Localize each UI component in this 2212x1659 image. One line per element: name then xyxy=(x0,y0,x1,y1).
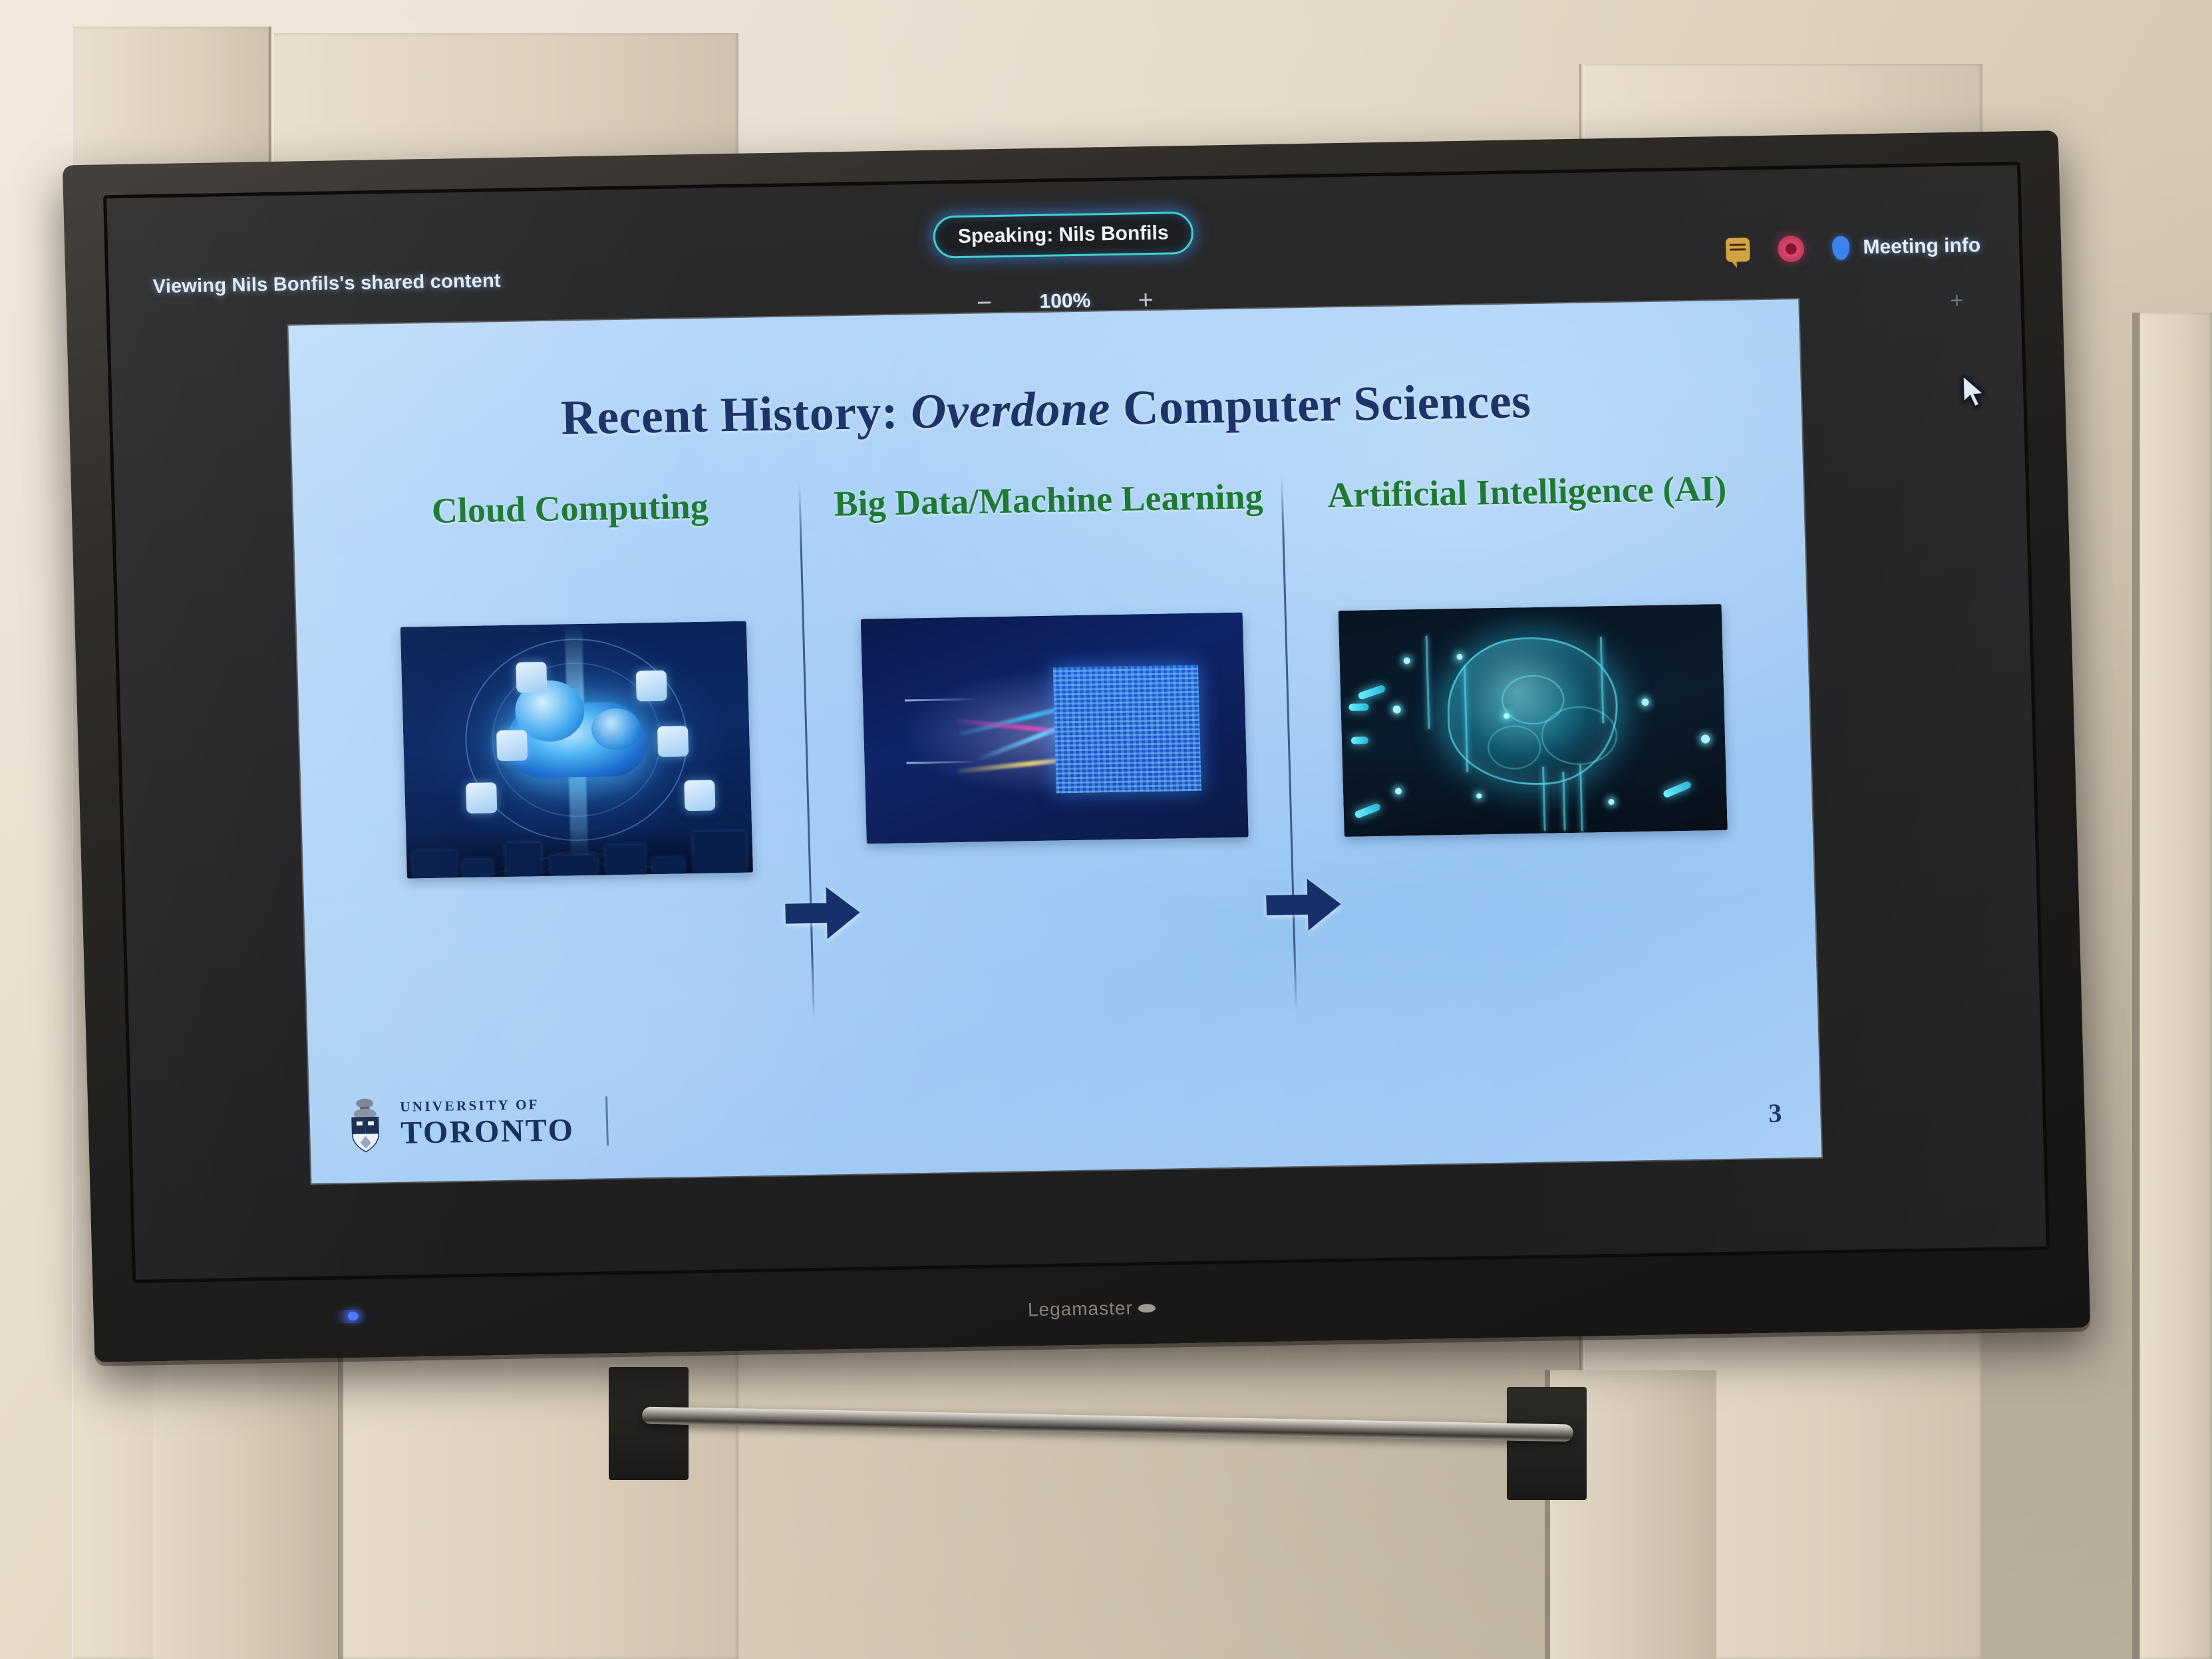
display-brand-mark xyxy=(1138,1304,1156,1312)
arrow-right-icon-1 xyxy=(784,884,860,943)
info-pin-icon[interactable] xyxy=(1832,236,1850,260)
chat-icon[interactable] xyxy=(1726,237,1750,262)
uoft-logo: UNIVERSITY OF TORONTO xyxy=(344,1093,609,1153)
wall-post-left xyxy=(153,1344,339,1659)
ai-brain-illustration xyxy=(1339,604,1728,837)
wall-panel-far-right-shadow xyxy=(2132,313,2140,1659)
uoft-line-1: UNIVERSITY OF xyxy=(400,1097,574,1114)
column-heading-3: Artificial Intelligence (AI) xyxy=(1327,467,1728,572)
slide-title-suffix: Computer Sciences xyxy=(1110,374,1532,436)
column-heading-1: Cloud Computing xyxy=(431,485,711,588)
display-brand-name: Legamaster xyxy=(1028,1298,1134,1321)
display-power-led xyxy=(333,1309,382,1323)
meeting-info-button[interactable]: Meeting info xyxy=(1863,234,1981,259)
speaking-badge: Speaking: Nils Bonfils xyxy=(933,212,1193,259)
meeting-toolbar[interactable]: Meeting info xyxy=(1726,232,1981,263)
zoom-out-button[interactable]: − xyxy=(970,289,999,317)
column-big-data: Big Data/Machine Learning xyxy=(808,474,1297,844)
uoft-divider-rule xyxy=(605,1096,609,1145)
arrow-right-icon-2 xyxy=(1265,875,1341,934)
display-mount-bracket-right xyxy=(1507,1387,1587,1500)
uoft-wordmark: UNIVERSITY OF TORONTO xyxy=(400,1097,575,1149)
column-artificial-intelligence: Artificial Intelligence (AI) xyxy=(1287,466,1776,837)
cloud-computing-illustration xyxy=(400,621,752,879)
viewing-shared-content-label: Viewing Nils Bonfils's shared content xyxy=(152,270,501,298)
column-heading-2: Big Data/Machine Learning xyxy=(834,475,1265,581)
slide-title-prefix: Recent History: xyxy=(560,384,911,445)
room-photo-scene: Viewing Nils Bonfils's shared content Sp… xyxy=(0,0,2212,1659)
neural-network-illustration xyxy=(861,613,1249,844)
slide-title-emphasis: Overdone xyxy=(910,381,1111,439)
column-cloud-computing: Cloud Computing xyxy=(330,483,819,879)
expand-marker[interactable]: + xyxy=(1950,289,1964,312)
record-icon[interactable] xyxy=(1778,235,1805,263)
zoom-in-button[interactable]: + xyxy=(1132,287,1160,314)
shared-slide[interactable]: Recent History: Overdone Computer Scienc… xyxy=(288,299,1821,1183)
slide-title: Recent History: Overdone Computer Scienc… xyxy=(290,369,1802,452)
wall-post-left-shadow xyxy=(338,1344,343,1659)
slide-page-number: 3 xyxy=(1768,1098,1782,1129)
wall-panel-far-right xyxy=(2139,313,2212,1659)
uoft-crest-icon xyxy=(344,1097,387,1153)
wall-mounted-display: Viewing Nils Bonfils's shared content Sp… xyxy=(63,130,2090,1362)
slide-columns: Cloud Computing xyxy=(330,466,1781,1070)
zoom-level-value: 100% xyxy=(1039,290,1091,313)
teams-meeting-screen: Viewing Nils Bonfils's shared content Sp… xyxy=(106,165,2046,1280)
display-brand-logo: Legamaster xyxy=(1028,1297,1156,1320)
uoft-line-2: TORONTO xyxy=(400,1114,575,1149)
